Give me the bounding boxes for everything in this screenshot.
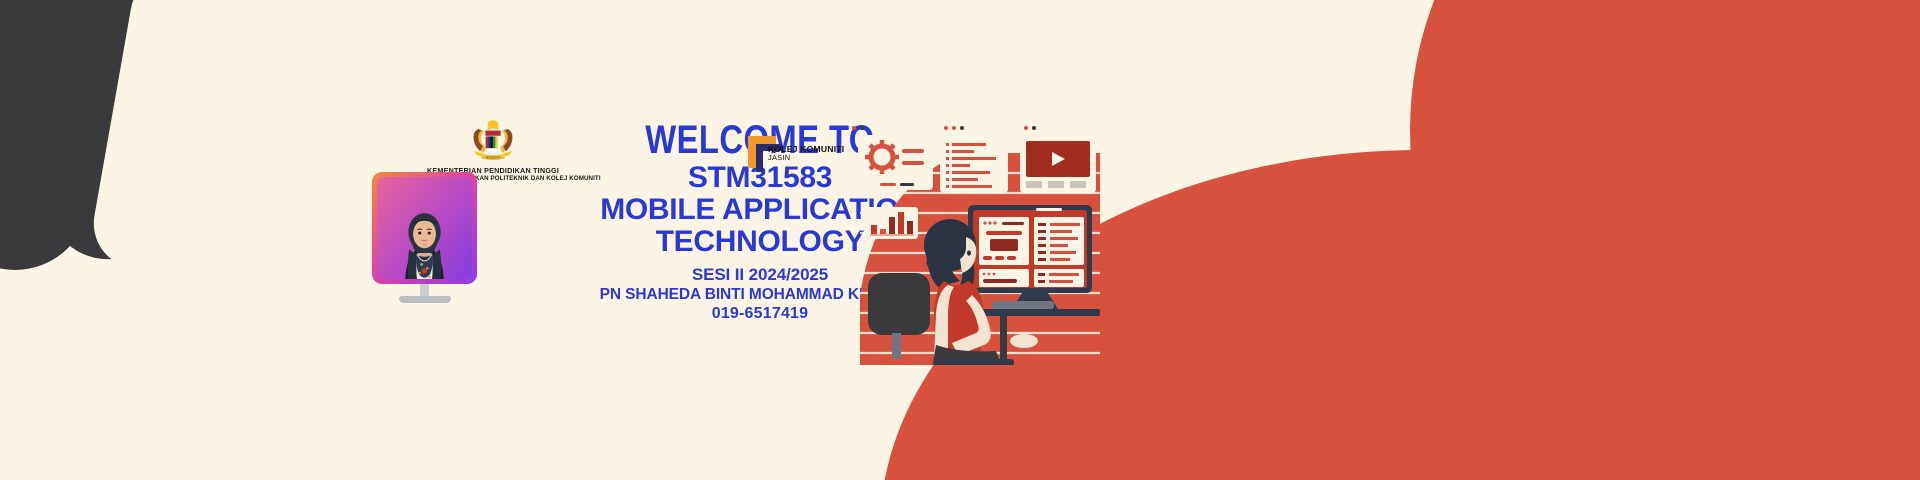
monitor-stand-base	[399, 296, 451, 303]
bar-chart-panel	[866, 207, 918, 239]
video-panel	[1020, 126, 1096, 193]
lecturer-photo	[372, 172, 477, 302]
kolej-komuniti-text: KOLEJ KOMUNITI JASIN	[768, 145, 844, 162]
college-branch: JASIN	[768, 154, 844, 163]
desk-leg	[1000, 316, 1007, 360]
workstation-illustration	[840, 95, 1100, 365]
gear-panel	[852, 126, 933, 190]
monitor-stand-neck	[420, 284, 429, 296]
malaysia-coat-of-arms-icon: BERSEKUTU	[465, 118, 521, 164]
code-panel	[940, 126, 1008, 193]
svg-text:BERSEKUTU: BERSEKUTU	[486, 158, 500, 160]
photo-frame	[372, 172, 477, 284]
banner-canvas: BERSEKUTU KEMENTERIAN PENDIDIKAN TINGGI …	[0, 0, 1920, 480]
illustration-svg	[840, 95, 1100, 365]
keyboard	[992, 301, 1054, 309]
portrait-illustration	[377, 177, 472, 279]
photo-image	[377, 177, 472, 279]
